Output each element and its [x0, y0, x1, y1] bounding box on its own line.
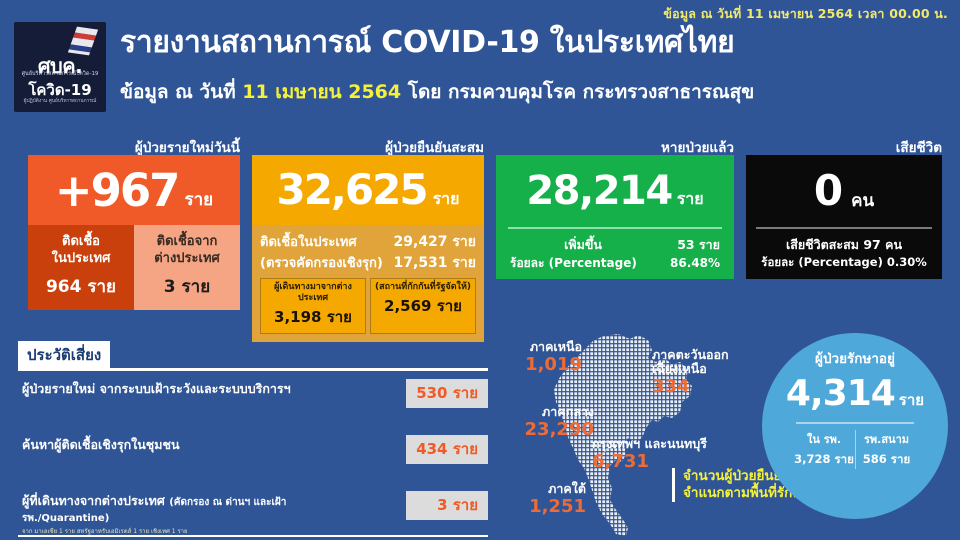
risk-row-abroad-label: ผู้ที่เดินทางจากต่างประเทศ (คัดกรอง ณ ด่…: [22, 493, 352, 536]
new-cases-value: +967: [55, 168, 179, 213]
risk-row-abroad: ผู้ที่เดินทางจากต่างประเทศ (คัดกรอง ณ ด่…: [18, 483, 488, 539]
cumulative-value: 32,625: [276, 169, 426, 211]
cumulative-abroad-label: ผู้เดินทางมาจากต่างประเทศ: [263, 282, 363, 304]
recovered-unit: ราย: [677, 171, 704, 212]
cumulative-abroad-box: ผู้เดินทางมาจากต่างประเทศ 3,198 ราย: [260, 278, 366, 334]
cc-sa-logo: ศบค. ศูนย์บริหารสถานการณ์โควิด-19 โควิด-…: [14, 22, 106, 112]
cumulative-screening-value: 17,531 ราย: [394, 253, 476, 274]
cumulative-breakdown: ติดเชื้อในประเทศ 29,427 ราย (ตรวจคัดกรอง…: [252, 225, 484, 342]
risk-row-active-search-value: 434 ราย: [406, 435, 488, 464]
risk-row-abroad-value: 3 ราย: [406, 491, 488, 520]
risk-row-active-search-label: ค้นหาผู้ติดเชื้อเชิงรุกในชุมชน: [22, 437, 352, 453]
risk-history-title: ประวัติเสี่ยง: [18, 341, 110, 370]
risk-row-surveillance-value: 530 ราย: [406, 379, 488, 408]
treating-value-block: 4,314 ราย: [786, 373, 924, 414]
card-cumulative: 32,625 ราย ติดเชื้อในประเทศ 29,427 ราย (…: [252, 155, 484, 342]
deaths-percentage-text: ร้อยละ (Percentage) 0.30%: [746, 254, 942, 272]
treating-field-label: รพ.สนาม: [856, 430, 917, 448]
new-cases-domestic: ติดเชื้อ ในประเทศ 964 ราย: [28, 225, 134, 310]
new-cases-value-block: +967 ราย: [28, 155, 240, 225]
treating-hospital-label: ใน รพ.: [793, 430, 855, 448]
domestic-label-line1: ติดเชื้อ: [62, 235, 100, 250]
page-title: รายงานสถานการณ์ COVID-19 ในประเทศไทย: [120, 26, 734, 59]
map-label-bangkok: กรุงเทพฯ และนนทบุรี 6,731: [592, 437, 752, 472]
map-label-northeast-name-line2: เฉียงเหนือ: [652, 362, 758, 376]
risk-row-active-search: ค้นหาผู้ติดเชื้อเชิงรุกในชุมชน 434 ราย: [18, 427, 488, 483]
recovered-percentage-value: 86.48%: [656, 254, 720, 273]
subtitle-suffix: โดย กรมควบคุมโรค กระทรวงสาธารณสุข: [401, 81, 754, 103]
data-timestamp: ข้อมูล ณ วันที่ 11 เมษายน 2564 เวลา 00.0…: [663, 4, 948, 24]
cumulative-screening-row: (ตรวจคัดกรองเชิงรุก) 17,531 ราย: [260, 253, 476, 274]
cumulative-abroad-value: 3,198 ราย: [263, 305, 363, 329]
deaths-value-block: 0 คน: [746, 155, 942, 227]
map-label-central-name: ภาคกลาง: [498, 405, 594, 419]
cumulative-quarantine-label: (สถานที่กักกันที่รัฐจัดให้): [373, 282, 473, 293]
card-new-cases: +967 ราย ติดเชื้อ ในประเทศ 964 ราย ติดเช…: [28, 155, 240, 310]
risk-history-panel: ประวัติเสี่ยง ผู้ป่วยรายใหม่ จากระบบเฝ้า…: [18, 341, 488, 540]
map-label-central-value: 23,290: [498, 420, 594, 440]
recovered-value-block: 28,214 ราย: [496, 155, 734, 227]
new-cases-unit: ราย: [185, 168, 214, 213]
infographic-page: ข้อมูล ณ วันที่ 11 เมษายน 2564 เวลา 00.0…: [0, 0, 960, 540]
treating-breakdown: ใน รพ. 3,728 ราย รพ.สนาม 586 ราย: [793, 430, 917, 469]
page-subtitle: ข้อมูล ณ วันที่ 11 เมษายน 2564 โดย กรมคว…: [120, 82, 754, 103]
card-deaths: 0 คน เสียชีวิตสะสม 97 คน ร้อยละ (Percent…: [746, 155, 942, 279]
treating-field-cell: รพ.สนาม 586 ราย: [855, 430, 917, 469]
cumulative-domestic-label: ติดเชื้อในประเทศ: [260, 233, 357, 253]
map-label-northeast-name-line1: ภาคตะวันออก: [652, 348, 758, 362]
treating-heading: ผู้ป่วยรักษาอยู่: [815, 347, 895, 369]
treating-hospital-value: 3,728 ราย: [793, 451, 855, 469]
logo-fullname: ศูนย์บริหารสถานการณ์โควิด-19: [14, 70, 106, 78]
recovered-percentage-row: ร้อยละ (Percentage) 86.48%: [496, 254, 734, 273]
recovered-box: 28,214 ราย เพิ่มขึ้น 53 ราย ร้อยละ (Perc…: [496, 155, 734, 279]
treating-circle: ผู้ป่วยรักษาอยู่ 4,314 ราย ใน รพ. 3,728 …: [762, 333, 948, 519]
risk-row-surveillance-label: ผู้ป่วยรายใหม่ จากระบบเฝ้าระวังและระบบบร…: [22, 381, 352, 397]
map-label-northeast: ภาคตะวันออก เฉียงเหนือ 334: [652, 348, 758, 396]
treating-unit: ราย: [899, 388, 924, 412]
map-label-north-name: ภาคเหนือ: [492, 340, 582, 354]
deaths-value: 0: [814, 170, 843, 212]
risk-row-surveillance: ผู้ป่วยรายใหม่ จากระบบเฝ้าระวังและระบบบร…: [18, 371, 488, 427]
cumulative-quarantine-value: 2,569 ราย: [373, 294, 473, 318]
map-label-south-value: 1,251: [496, 497, 586, 517]
map-label-central: ภาคกลาง 23,290: [498, 405, 594, 440]
deaths-cumulative-text: เสียชีวิตสะสม 97 คน: [746, 235, 942, 254]
deaths-unit: คน: [851, 169, 874, 214]
imported-label-line2: ต่างประเทศ: [154, 252, 220, 267]
subtitle-date: 11 เมษายน 2564: [242, 81, 401, 103]
cumulative-subboxes: ผู้เดินทางมาจากต่างประเทศ 3,198 ราย (สถา…: [260, 278, 476, 334]
recovered-divider: [508, 227, 722, 229]
deaths-divider: [756, 227, 932, 229]
imported-label-line1: ติดเชื้อจาก: [157, 235, 218, 250]
cumulative-unit: ราย: [433, 169, 460, 212]
recovered-increase-label: เพิ่มขึ้น: [510, 235, 656, 254]
map-label-north: ภาคเหนือ 1,019: [492, 340, 582, 375]
imported-value: 3 ราย: [164, 273, 210, 300]
recovered-increase-row: เพิ่มขึ้น 53 ราย: [496, 235, 734, 254]
cumulative-quarantine-box: (สถานที่กักกันที่รัฐจัดให้) 2,569 ราย: [370, 278, 476, 334]
cumulative-value-block: 32,625 ราย: [252, 155, 484, 225]
domestic-label-line2: ในประเทศ: [52, 252, 111, 267]
map-label-south: ภาคใต้ 1,251: [496, 482, 586, 517]
recovered-increase-value: 53 ราย: [656, 235, 720, 254]
cumulative-domestic-value: 29,427 ราย: [394, 232, 476, 253]
subtitle-prefix: ข้อมูล ณ วันที่: [120, 81, 242, 103]
risk-row-abroad-main: ผู้ที่เดินทางจากต่างประเทศ: [22, 493, 169, 508]
treating-hospital-cell: ใน รพ. 3,728 ราย: [793, 430, 855, 469]
map-label-bangkok-name: กรุงเทพฯ และนนทบุรี: [592, 437, 752, 451]
card-recovered: 28,214 ราย เพิ่มขึ้น 53 ราย ร้อยละ (Perc…: [496, 155, 734, 279]
treating-field-value: 586 ราย: [856, 451, 917, 469]
cumulative-screening-label: (ตรวจคัดกรองเชิงรุก): [260, 254, 383, 274]
recovered-value: 28,214: [526, 171, 671, 211]
treating-value: 4,314: [786, 373, 895, 414]
treating-divider: [796, 422, 914, 424]
cumulative-domestic-row: ติดเชื้อในประเทศ 29,427 ราย: [260, 232, 476, 253]
new-cases-breakdown: ติดเชื้อ ในประเทศ 964 ราย ติดเชื้อจาก ต่…: [28, 225, 240, 310]
map-label-northeast-value: 334: [652, 377, 758, 397]
recovered-percentage-label: ร้อยละ (Percentage): [510, 254, 656, 273]
risk-row-abroad-countries: จาก มาเลเซีย 1 ราย สหรัฐอาหรับเอมิเรตส์ …: [22, 528, 352, 536]
new-cases-imported: ติดเชื้อจาก ต่างประเทศ 3 ราย: [134, 225, 240, 310]
map-label-north-value: 1,019: [492, 355, 582, 375]
deaths-box: 0 คน เสียชีวิตสะสม 97 คน ร้อยละ (Percent…: [746, 155, 942, 279]
logo-tagline: ผู้ปฏิบัติงาน ศูนย์บริหารสถานการณ์: [14, 97, 106, 105]
domestic-value: 964 ราย: [46, 273, 116, 300]
map-label-south-name: ภาคใต้: [496, 482, 586, 496]
